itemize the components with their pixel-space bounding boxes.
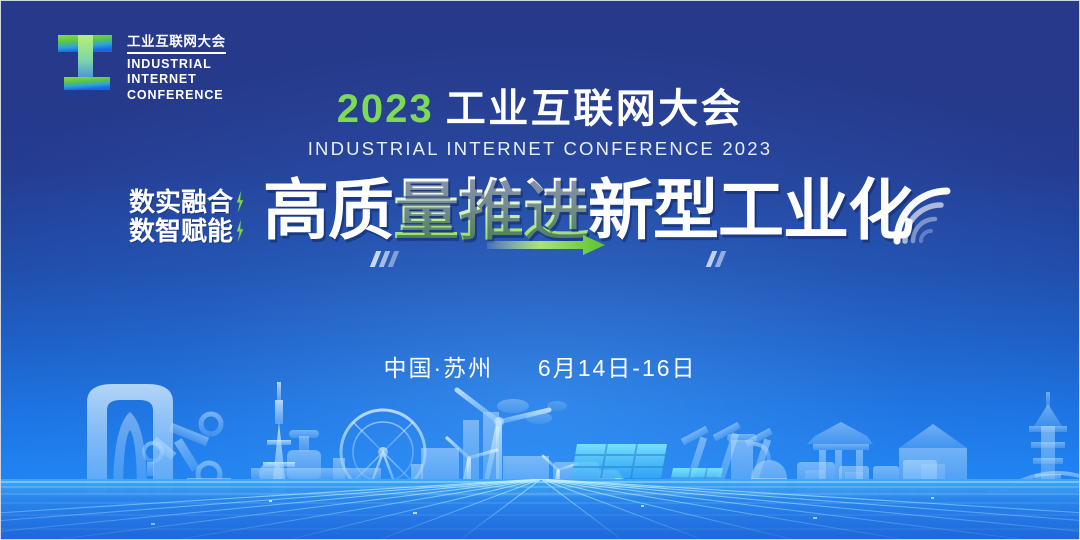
bridge-icon	[953, 464, 1080, 495]
slogan-secondary: 数实融合 数智赋能	[129, 189, 245, 244]
robot-arm-icon	[144, 414, 231, 496]
speed-tick-decoration	[388, 251, 399, 267]
event-location: 中国·苏州	[383, 355, 493, 381]
train-icon	[797, 460, 937, 496]
slogan-secondary-line-2: 数智赋能	[129, 218, 245, 244]
exhibition-hall-icon	[899, 424, 967, 496]
tv-tower-icon	[263, 382, 295, 496]
truck-icon	[553, 462, 641, 496]
industrial-internet-conference-logo-icon	[56, 31, 118, 95]
event-meta: 中国·苏州 6月14日-16日	[1, 349, 1079, 383]
solar-panel-icon	[669, 468, 723, 496]
headline-block: 2023 工业互联网大会 INDUSTRIAL INTERNET CONFERE…	[1, 89, 1079, 160]
lightning-bolt-icon	[235, 220, 245, 242]
storage-tank-icon	[727, 434, 787, 496]
conference-poster: 工业互联网大会 INDUSTRIAL INTERNET CONFERENCE 2…	[0, 0, 1080, 540]
wind-turbine-icon	[543, 456, 577, 496]
horizon-glow-line	[1, 492, 1080, 496]
slogan-secondary-text-2: 数智赋能	[129, 218, 233, 244]
slogan-main: 高质量推进新型工业化	[263, 177, 913, 243]
chinese-pavilion-icon	[807, 422, 877, 496]
industrial-valve-icon	[251, 430, 381, 486]
ferris-wheel-icon	[341, 410, 425, 494]
headline-year: 2023	[337, 87, 434, 131]
slogan-main-suffix: 新型工业化	[588, 173, 913, 247]
speed-tick-decoration	[715, 251, 726, 267]
wind-turbine-icon	[457, 390, 549, 496]
headline-main: 2023 工业互联网大会	[1, 89, 1079, 129]
industrial-city-skyline	[1, 366, 1080, 496]
perspective-grid-floor	[1, 479, 1080, 539]
slogan-main-accent: 量推进	[393, 173, 588, 247]
headline-chinese-title: 工业互联网大会	[446, 87, 744, 131]
gate-of-the-orient-icon	[87, 384, 173, 494]
event-dates: 6月14日-16日	[538, 355, 697, 381]
headline-english-subtitle: INDUSTRIAL INTERNET CONFERENCE 2023	[1, 138, 1079, 160]
oil-pumpjack-icon	[677, 422, 773, 496]
factory-chimney-icon	[411, 399, 567, 496]
slogan-main-prefix: 高质	[263, 173, 393, 247]
lightning-bolt-icon	[235, 191, 245, 213]
pagoda-tower-icon	[1029, 392, 1067, 496]
slogan-secondary-line-1: 数实融合	[129, 189, 245, 215]
slogan-secondary-text-1: 数实融合	[129, 189, 233, 215]
logo-en-line-2: INTERNET	[127, 72, 226, 88]
wind-turbine-icon	[447, 438, 497, 496]
slogan-band: 数实融合 数智赋能 高质量推进新型工业化	[1, 179, 1079, 289]
logo-en-line-1: INDUSTRIAL	[127, 57, 226, 73]
solar-panel-icon	[571, 444, 667, 496]
logo-chinese-name: 工业互联网大会	[127, 35, 226, 54]
